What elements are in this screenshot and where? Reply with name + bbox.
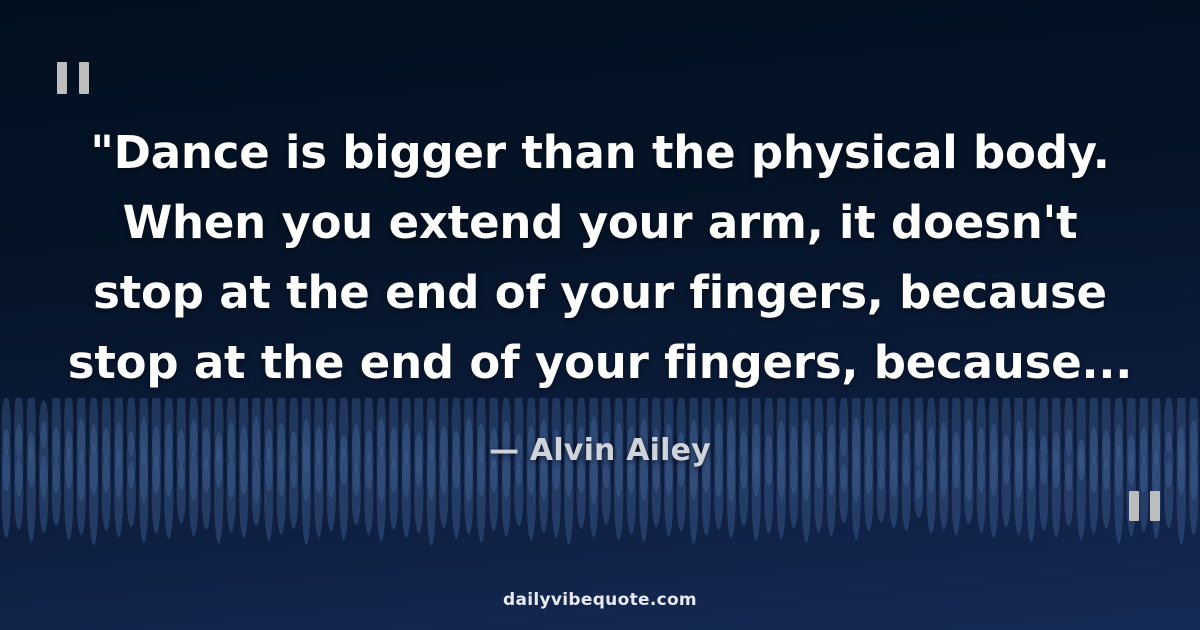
quote-line-1: "Dance is bigger than the physical body.: [40, 118, 1160, 188]
quote-open-icon: [57, 62, 89, 94]
quote-card: "Dance is bigger than the physical body.…: [0, 0, 1200, 630]
quote-line-3: stop at the end of your fingers, because: [40, 258, 1160, 328]
quote-line-4: stop at the end of your fingers, because…: [40, 328, 1160, 398]
quote-open-bar-2: [79, 62, 89, 94]
audio-waveform-graphic: [0, 398, 1200, 558]
quote-close-bar-1: [1129, 491, 1139, 521]
quote-text: "Dance is bigger than the physical body.…: [40, 118, 1160, 398]
quote-line-2: When you extend your arm, it doesn't: [40, 188, 1160, 258]
quote-close-bar-2: [1150, 491, 1160, 521]
quote-attribution: — Alvin Ailey: [0, 433, 1200, 468]
footer-site-name: dailyvibequote.com: [0, 590, 1200, 610]
quote-close-icon: [1129, 491, 1160, 521]
quote-open-bar-1: [57, 62, 67, 94]
